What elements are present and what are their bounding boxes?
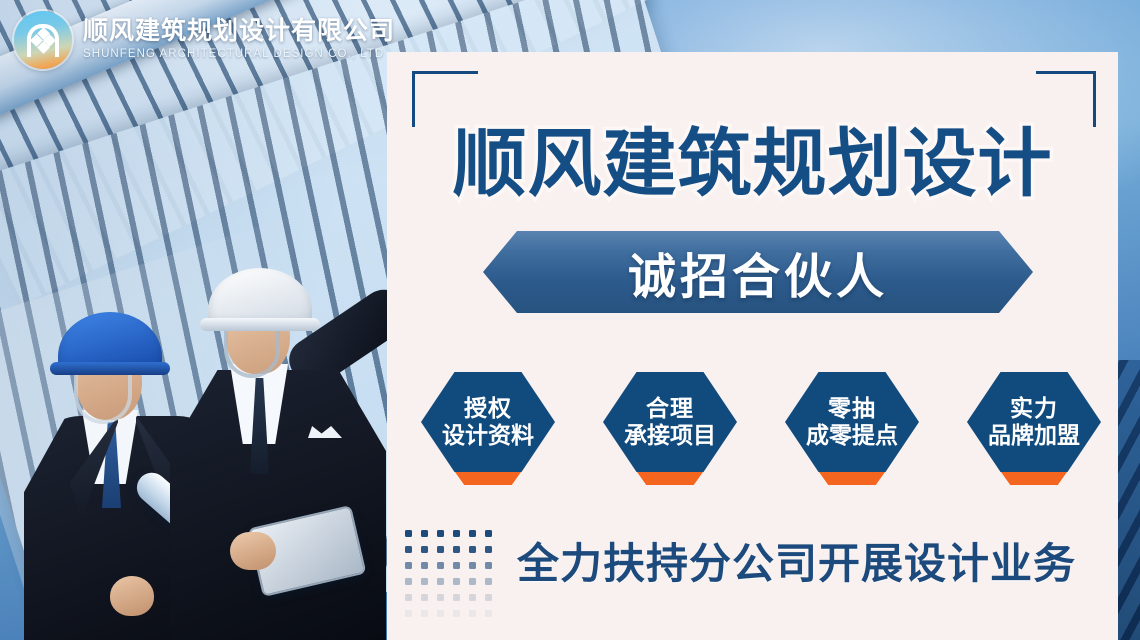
benefit-badge-label: 零抽 成零提点 (785, 372, 919, 472)
benefit-badge: 实力 品牌加盟 (967, 372, 1101, 490)
grid-dot (485, 546, 492, 553)
company-name-cn: 顺风建筑规划设计有限公司 (83, 19, 395, 44)
badge-line-2: 设计资料 (442, 423, 534, 448)
promotional-banner: 顺风建筑规划设计 诚招合伙人 授权 设计资料 合理 承接项目 (0, 0, 1140, 640)
grid-dot (453, 578, 460, 585)
grid-dot (421, 594, 428, 601)
grid-dot (485, 610, 492, 617)
grid-dot (421, 562, 428, 569)
grid-dot (485, 530, 492, 537)
badge-line-2: 承接项目 (624, 423, 716, 448)
grid-dot (437, 546, 444, 553)
grid-dot (405, 546, 412, 553)
company-name-en: SHUNFENG ARCHITECTURAL DESIGN CO., LTD (83, 49, 395, 61)
grid-dot (453, 562, 460, 569)
badge-line-2: 成零提点 (806, 423, 898, 448)
grid-dot (469, 530, 476, 537)
hexagon-accent-base (1001, 472, 1067, 485)
hardhat-brim (50, 362, 170, 375)
benefit-badge-label: 实力 品牌加盟 (967, 372, 1101, 472)
people-photo-group (0, 220, 420, 640)
grid-dot (469, 562, 476, 569)
hexagon-accent-base (819, 472, 885, 485)
grid-dot (469, 594, 476, 601)
grid-dot (437, 578, 444, 585)
grid-dot (405, 594, 412, 601)
grid-dot (469, 610, 476, 617)
grid-dot (421, 610, 428, 617)
badge-line-1: 实力 (1010, 396, 1058, 421)
grid-dot (453, 594, 460, 601)
grid-dot (437, 530, 444, 537)
grid-dot (485, 578, 492, 585)
tagline-text: 全力扶持分公司开展设计业务 (517, 530, 1102, 591)
grid-dot (485, 594, 492, 601)
hand (110, 576, 154, 616)
grid-dot (453, 530, 460, 537)
badge-line-1: 零抽 (828, 396, 876, 421)
grid-dot (405, 530, 412, 537)
call-to-action-label: 诚招合伙人 (483, 231, 1033, 313)
benefit-badge-label: 合理 承接项目 (603, 372, 737, 472)
grid-dot (437, 610, 444, 617)
benefit-badge: 零抽 成零提点 (785, 372, 919, 490)
benefit-badge-label: 授权 设计资料 (421, 372, 555, 472)
engineer-white-hardhat-pointing (168, 250, 418, 640)
grid-dot (405, 610, 412, 617)
corner-bracket-top-right (1036, 71, 1096, 127)
brand-logo-lockup: 顺风建筑规划设计有限公司 SHUNFENG ARCHITECTURAL DESI… (14, 11, 395, 69)
corner-bracket-top-left (412, 71, 478, 127)
content-panel: 顺风建筑规划设计 诚招合伙人 授权 设计资料 合理 承接项目 (387, 52, 1118, 640)
benefit-badge: 授权 设计资料 (421, 372, 555, 490)
benefit-badge: 合理 承接项目 (603, 372, 737, 490)
decorative-dot-grid (405, 530, 501, 626)
hand (230, 532, 276, 570)
call-to-action-banner: 诚招合伙人 (483, 231, 1033, 313)
grid-dot (453, 546, 460, 553)
hardhat-brim (200, 318, 320, 331)
grid-dot (453, 610, 460, 617)
grid-dot (405, 562, 412, 569)
benefit-badge-row: 授权 设计资料 合理 承接项目 零抽 成零提点 (421, 372, 1101, 492)
grid-dot (469, 546, 476, 553)
arch-diamond-logo-icon (14, 11, 72, 69)
badge-line-1: 合理 (646, 396, 694, 421)
page-title: 顺风建筑规划设计 (387, 124, 1118, 204)
grid-dot (421, 546, 428, 553)
grid-dot (437, 594, 444, 601)
grid-dot (421, 578, 428, 585)
badge-line-2: 品牌加盟 (988, 423, 1080, 448)
hexagon-accent-base (637, 472, 703, 485)
grid-dot (421, 530, 428, 537)
grid-dot (437, 562, 444, 569)
brand-name-block: 顺风建筑规划设计有限公司 SHUNFENG ARCHITECTURAL DESI… (83, 19, 395, 61)
badge-line-1: 授权 (464, 396, 512, 421)
grid-dot (405, 578, 412, 585)
grid-dot (485, 562, 492, 569)
hexagon-accent-base (455, 472, 521, 485)
grid-dot (469, 578, 476, 585)
